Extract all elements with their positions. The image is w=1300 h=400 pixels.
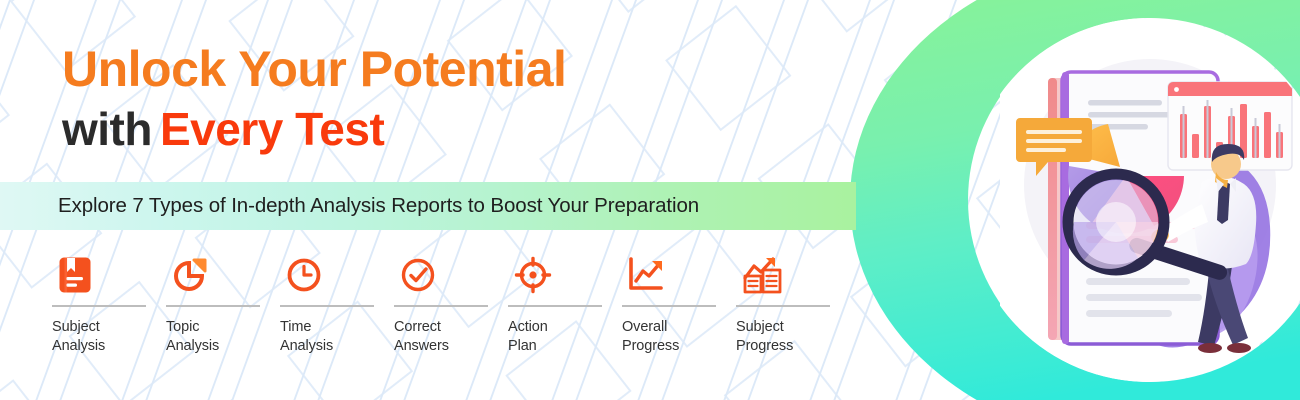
book-analysis-icon (58, 252, 92, 298)
feature-label: Action Plan (508, 318, 548, 356)
headline-with-word: with (62, 103, 152, 155)
feature-label: Subject Progress (736, 318, 793, 356)
headline-line-1: Unlock Your Potential (62, 44, 566, 94)
pie-chart-icon (172, 252, 208, 298)
clock-icon (286, 252, 322, 298)
feature-strip: Subject Analysis Topic Analysis (52, 252, 852, 362)
feature-item-overall-progress[interactable]: Overall Progress (622, 252, 736, 362)
data-analysis-illustration (1000, 0, 1300, 400)
feature-label: Correct Answers (394, 318, 449, 356)
target-crosshair-icon (514, 252, 552, 298)
feature-item-topic-analysis[interactable]: Topic Analysis (166, 252, 280, 362)
feature-divider (166, 305, 260, 307)
gradient-blob-background (830, 0, 1300, 400)
headline-block: Unlock Your Potential withEvery Test (62, 44, 566, 152)
feature-divider (508, 305, 602, 307)
feature-divider (736, 305, 830, 307)
feature-divider (622, 305, 716, 307)
feature-divider (280, 305, 374, 307)
headline-line-2: withEvery Test (62, 106, 566, 152)
feature-item-subject-progress[interactable]: Subject Progress (736, 252, 850, 362)
check-circle-icon (400, 252, 436, 298)
feature-item-time-analysis[interactable]: Time Analysis (280, 252, 394, 362)
line-chart-up-icon (628, 252, 666, 298)
subtitle-band: Explore 7 Types of In-depth Analysis Rep… (0, 182, 856, 230)
feature-item-subject-analysis[interactable]: Subject Analysis (52, 252, 166, 362)
feature-item-action-plan[interactable]: Action Plan (508, 252, 622, 362)
headline-emphasis-word: Every Test (160, 103, 384, 155)
feature-divider (52, 305, 146, 307)
feature-label: Time Analysis (280, 318, 333, 356)
promo-banner: Unlock Your Potential withEvery Test Exp… (0, 0, 1300, 400)
feature-label: Overall Progress (622, 318, 679, 356)
feature-item-correct-answers[interactable]: Correct Answers (394, 252, 508, 362)
subtitle-text: Explore 7 Types of In-depth Analysis Rep… (58, 194, 699, 218)
feature-label: Topic Analysis (166, 318, 219, 356)
report-growth-icon (742, 252, 784, 298)
feature-divider (394, 305, 488, 307)
feature-label: Subject Analysis (52, 318, 105, 356)
